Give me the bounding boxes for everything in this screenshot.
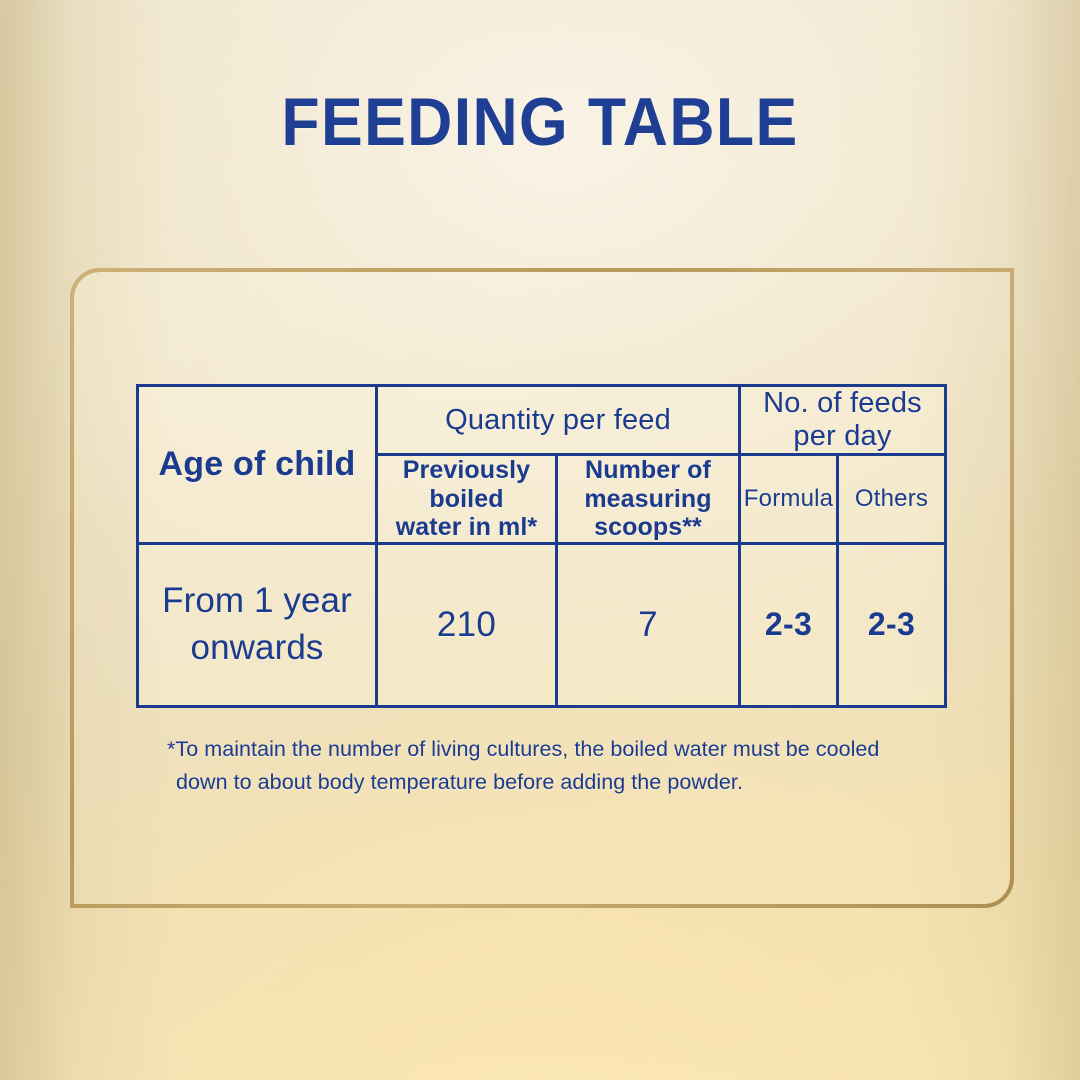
header-age-of-child: Age of child [138,386,377,544]
feeding-table-poster: FEEDING TABLE Age of child Quantity per … [0,0,1080,1080]
header-measuring-scoops: Number of measuring scoops** [557,455,740,544]
header-others: Others [838,455,946,544]
cell-feeds-others: 2-3 [838,543,946,706]
cell-age-range: From 1 year onwards [138,543,377,706]
header-formula: Formula [740,455,838,544]
header-boiled-water-line2: water in ml* [396,513,538,541]
header-measuring-scoops-line1: Number of [585,456,711,484]
header-measuring-scoops-line2: measuring scoops** [584,485,711,542]
cell-feeds-formula: 2-3 [740,543,838,706]
page-title: FEEDING TABLE [43,88,1037,156]
header-boiled-water: Previously boiled water in ml* [377,455,557,544]
table-row: From 1 year onwards 210 7 2-3 2-3 [138,543,946,706]
feeding-table: Age of child Quantity per feed No. of fe… [136,384,947,708]
cell-scoops: 7 [557,543,740,706]
table-header-row-group: Age of child Quantity per feed No. of fe… [138,386,946,455]
cell-age-range-line2: onwards [191,628,324,667]
cell-water-ml: 210 [377,543,557,706]
footnote-text: *To maintain the number of living cultur… [176,733,906,798]
header-feeds-per-day: No. of feeds per day [740,386,946,455]
cell-age-range-line1: From 1 year [162,581,352,620]
header-boiled-water-line1: Previously boiled [403,456,530,513]
header-quantity-per-feed: Quantity per feed [377,386,740,455]
